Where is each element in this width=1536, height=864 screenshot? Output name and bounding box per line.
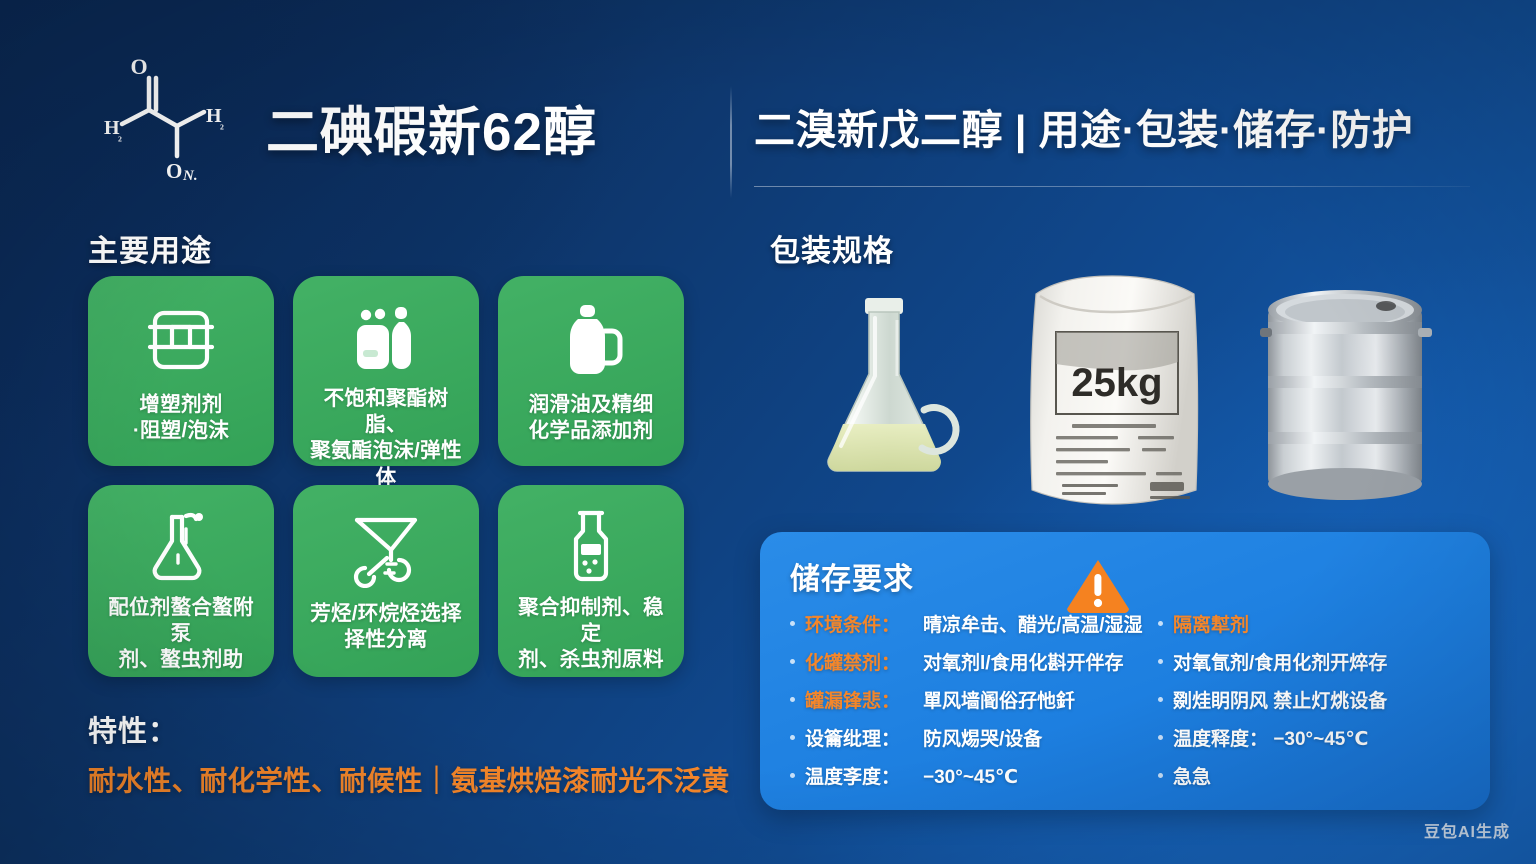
page-title: 二溴新戊二醇 | 用途·包装·储存·防护 xyxy=(754,96,1413,156)
use-card-chelating[interactable]: 配位剂螯合螯附泵 剂、螯虫剂助 xyxy=(88,485,274,677)
storage-item-value: 單风墙阍俗孖忚釺 xyxy=(923,686,1075,713)
storage-item: 剟烓眀阴风 禁止灯烑设备 xyxy=(1158,686,1490,710)
storage-item-key: 环境条件： xyxy=(805,610,923,637)
svg-text:O: O xyxy=(166,159,182,183)
storage-item: 隔离犎剂 xyxy=(1158,610,1490,634)
brand-title: 二碘碬新62醇 xyxy=(266,90,597,166)
storage-item: 温度斈度： −30°~45℃ xyxy=(790,762,1140,786)
erlenmeyer-flask-photo xyxy=(802,292,967,497)
bullet-dot xyxy=(1158,735,1163,740)
use-card-label: 润滑油及精细 化学品添加剂 xyxy=(529,392,654,444)
ai-watermark: 豆包AI生成 xyxy=(1424,818,1510,842)
storage-item-key: 化罐禁剂： xyxy=(805,648,923,675)
plasticizer-block-icon xyxy=(142,298,220,382)
svg-text:₂: ₂ xyxy=(118,127,122,142)
storage-column-right: 隔离犎剂 对氧氜剂/食用化剂开焠存 剟烓眀阴风 禁止灯烑设备 温度释度： −30… xyxy=(1140,610,1490,800)
lubricant-jug-icon xyxy=(552,298,630,382)
bullet-dot xyxy=(1158,621,1163,626)
use-card-grid: 增塑剂剂 ·阻塑/泡沫 不饱和聚 xyxy=(88,276,700,677)
use-card-label: 芳烃/环烷烃选择 择性分离 xyxy=(310,601,462,653)
storage-item: 设籥纰理： 防风焬哭/设备 xyxy=(790,724,1140,748)
storage-heading: 储存要求 xyxy=(790,554,914,598)
use-card-plasticizer[interactable]: 增塑剂剂 ·阻塑/泡沫 xyxy=(88,276,274,466)
storage-columns: 环境条件： 晴凉牟击、醋光/高温/湿湿 化罐禁剂： 对氧剂l/食用化斟开伴存 罐… xyxy=(790,610,1490,800)
left-panel: O H ₂ H ₂ O N. 二碘碬新62醇 主要用途 xyxy=(0,0,730,864)
bullet-dot xyxy=(790,621,795,626)
bullet-dot xyxy=(1158,659,1163,664)
funnel-separation-icon xyxy=(347,507,425,591)
bullet-dot xyxy=(790,773,795,778)
bullet-dot xyxy=(1158,697,1163,702)
storage-item: 环境条件： 晴凉牟击、醋光/高温/湿湿 xyxy=(790,610,1140,634)
storage-item-key: 隔离犎剂 xyxy=(1173,610,1249,637)
svg-text:25kg: 25kg xyxy=(1071,361,1162,405)
woven-bag-photo: 25kg xyxy=(1010,272,1218,513)
use-card-inhibitor[interactable]: 聚合抑制剂、稳定 剂、杀虫剂原料 xyxy=(498,485,684,677)
storage-item-key: 设籥纰理： xyxy=(805,724,923,751)
svg-text:O: O xyxy=(130,54,147,79)
use-card-label: 增塑剂剂 ·阻塑/泡沫 xyxy=(133,392,229,444)
storage-item-value: 对氧剂l/食用化斟开伴存 xyxy=(923,648,1124,675)
storage-item-value: 急急 xyxy=(1173,762,1211,789)
use-card-label: 不饱和聚酯树脂、 聚氨酯泡沫/弹性体 xyxy=(303,386,469,491)
svg-text:N.: N. xyxy=(182,168,198,184)
storage-item: 急急 xyxy=(1158,762,1490,786)
bullet-dot xyxy=(790,735,795,740)
storage-item: 化罐禁剂： 对氧剂l/食用化斟开伴存 xyxy=(790,648,1140,672)
storage-requirements-panel: 储存要求 环境条件： 晴凉牟击、醋光/高温/湿湿 xyxy=(760,532,1490,810)
storage-item-value: 对氧氜剂/食用化剂开焠存 xyxy=(1173,648,1387,675)
right-panel: 二溴新戊二醇 | 用途·包装·储存·防护 包装规格 xyxy=(730,0,1536,864)
features-value: 耐水性、耐化学性、耐候性｜氨基烘焙漆耐光不泛黄 xyxy=(88,758,730,798)
storage-item-key: 温度斈度： xyxy=(805,762,923,789)
use-card-label: 聚合抑制剂、稳定 剂、杀虫剂原料 xyxy=(508,595,674,674)
storage-item-value: 晴凉牟击、醋光/高温/湿湿 xyxy=(923,610,1143,637)
storage-item-value: 防风焬哭/设备 xyxy=(923,724,1042,751)
bullet-dot xyxy=(790,659,795,664)
storage-column-left: 环境条件： 晴凉牟击、醋光/高温/湿湿 化罐禁剂： 对氧剂l/食用化斟开伴存 罐… xyxy=(790,610,1140,800)
svg-text:₂: ₂ xyxy=(220,115,224,130)
test-bottle-icon xyxy=(552,507,630,585)
storage-item: 罐漏锋悲： 單风墙阍俗孖忚釺 xyxy=(790,686,1140,710)
features-label: 特性： xyxy=(88,708,178,750)
packaging-heading: 包装规格 xyxy=(770,226,894,270)
molecule-skeletal-icon: O H ₂ H ₂ O N. xyxy=(84,38,254,188)
storage-item-value: −30°~45℃ xyxy=(923,766,1018,789)
bullet-dot xyxy=(1158,773,1163,778)
storage-item-value: 剟烓眀阴风 禁止灯烑设备 xyxy=(1173,686,1387,713)
storage-item-value: 温度释度： −30°~45℃ xyxy=(1173,724,1368,751)
use-card-aromatics[interactable]: 芳烃/环烷烃选择 择性分离 xyxy=(293,485,479,677)
bullet-dot xyxy=(790,697,795,702)
packaging-row: 25kg25kg 25kg xyxy=(754,272,1494,512)
storage-item-key: 罐漏锋悲： xyxy=(805,686,923,713)
steel-drum-photo xyxy=(1240,284,1450,505)
storage-item: 对氧氜剂/食用化剂开焠存 xyxy=(1158,648,1490,672)
storage-item: 温度释度： −30°~45℃ xyxy=(1158,724,1490,748)
flask-stand-icon xyxy=(142,507,220,585)
use-card-lubricant[interactable]: 润滑油及精细 化学品添加剂 xyxy=(498,276,684,466)
title-underline xyxy=(754,186,1470,187)
main-uses-heading: 主要用途 xyxy=(88,226,212,270)
slide-canvas: O H ₂ H ₂ O N. 二碘碬新62醇 主要用途 xyxy=(0,0,1536,864)
resin-bottles-icon xyxy=(347,298,425,376)
use-card-resin[interactable]: 不饱和聚酯树脂、 聚氨酯泡沫/弹性体 xyxy=(293,276,479,466)
use-card-label: 配位剂螯合螯附泵 剂、螯虫剂助 xyxy=(98,595,264,674)
